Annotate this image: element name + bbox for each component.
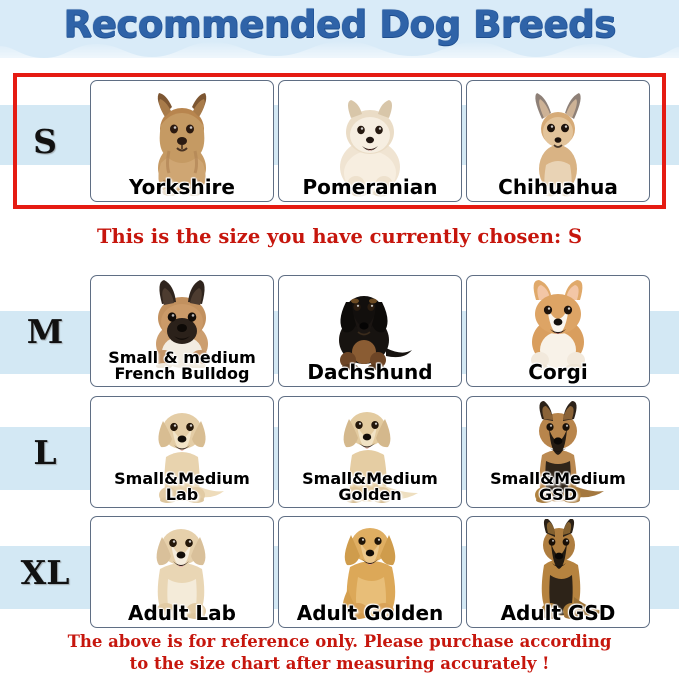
size-row-s[interactable]: S [0, 80, 679, 202]
footer-disclaimer-line2: to the size chart after measuring accura… [0, 653, 679, 675]
breed-card-adult-lab[interactable]: Adult Lab [90, 516, 274, 628]
breed-label: Corgi [467, 362, 649, 386]
size-row-l[interactable]: L [0, 396, 679, 508]
breed-label-line: Golden [279, 487, 461, 504]
breed-label-line: Adult GSD [467, 603, 649, 624]
breed-card-french-bulldog[interactable]: Small & medium French Bulldog [90, 275, 274, 387]
breed-label: Small&Medium GSD [467, 471, 649, 507]
breed-label: Chihuahua [467, 177, 649, 201]
breed-label: Small&Medium Golden [279, 471, 461, 507]
breed-card-small-medium-lab[interactable]: Small&Medium Lab [90, 396, 274, 508]
breed-card-group-m: Small & medium French Bulldog [90, 275, 679, 387]
breed-card-dachshund[interactable]: Dachshund [278, 275, 462, 387]
breed-label-line: GSD [467, 487, 649, 504]
breed-label-line: Adult Lab [91, 603, 273, 624]
breed-label: Pomeranian [279, 177, 461, 201]
poster-header: Recommended Dog Breeds [0, 0, 679, 58]
breed-card-group-l: Small&Medium Lab [90, 396, 679, 508]
breed-label: Dachshund [279, 362, 461, 386]
breed-label: Yorkshire [91, 177, 273, 201]
breed-label-line: Chihuahua [467, 177, 649, 198]
breed-card-yorkshire[interactable]: Yorkshire [90, 80, 274, 202]
breed-label: Adult GSD [467, 603, 649, 627]
footer-disclaimer: The above is for reference only. Please … [0, 631, 679, 676]
breed-label-line: Corgi [467, 362, 649, 383]
size-label-s: S [0, 80, 90, 202]
size-label-l: L [0, 396, 90, 508]
breed-label: Small & medium French Bulldog [91, 350, 273, 386]
breed-card-group-xl: Adult Lab [90, 516, 679, 628]
footer-disclaimer-line1: The above is for reference only. Please … [0, 631, 679, 653]
breed-label-line: Lab [91, 487, 273, 504]
size-row-xl[interactable]: XL [0, 516, 679, 628]
breed-label: Adult Golden [279, 603, 461, 627]
breed-card-chihuahua[interactable]: Chihuahua [466, 80, 650, 202]
selected-size-notice: This is the size you have currently chos… [0, 225, 679, 248]
breed-label-line: Pomeranian [279, 177, 461, 198]
size-label-m: M [0, 275, 90, 387]
breed-label-line: Dachshund [279, 362, 461, 383]
breed-card-adult-golden[interactable]: Adult Golden [278, 516, 462, 628]
page-title: Recommended Dog Breeds [0, 3, 679, 46]
breed-card-small-medium-gsd[interactable]: Small&Medium GSD [466, 396, 650, 508]
size-row-m[interactable]: M [0, 275, 679, 387]
size-label-xl: XL [0, 516, 90, 628]
breed-card-group-s: Yorkshire [90, 80, 679, 202]
breed-label: Adult Lab [91, 603, 273, 627]
breed-label-line: Adult Golden [279, 603, 461, 624]
recommended-dog-breeds-poster: Recommended Dog Breeds S [0, 0, 679, 678]
breed-label-line: French Bulldog [91, 366, 273, 383]
breed-card-small-medium-golden[interactable]: Small&Medium Golden [278, 396, 462, 508]
breed-card-adult-gsd[interactable]: Adult GSD [466, 516, 650, 628]
breed-card-pomeranian[interactable]: Pomeranian [278, 80, 462, 202]
breed-label: Small&Medium Lab [91, 471, 273, 507]
breed-label-line: Yorkshire [91, 177, 273, 198]
breed-card-corgi[interactable]: Corgi [466, 275, 650, 387]
